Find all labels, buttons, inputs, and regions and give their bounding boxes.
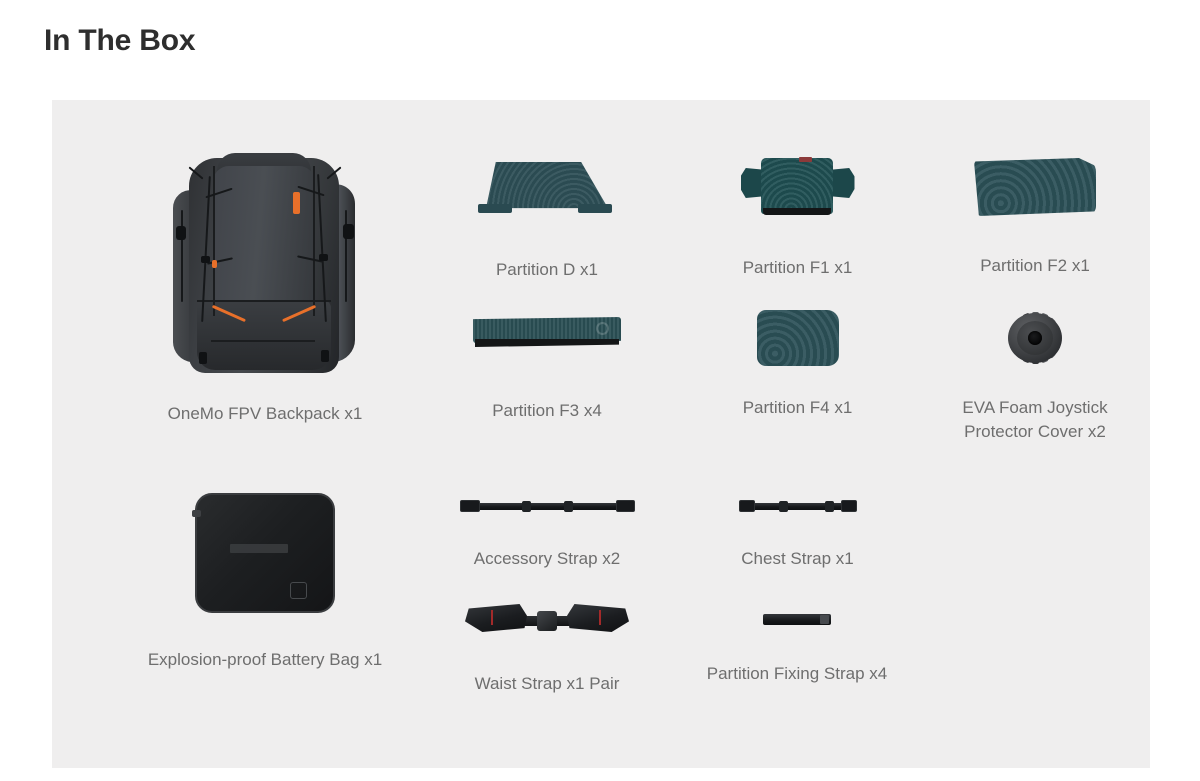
- partition-f1-icon: [739, 156, 857, 220]
- item-partition-f1[interactable]: Partition F1 x1: [680, 156, 915, 280]
- waist-strap-icon: [465, 600, 629, 644]
- item-label: Partition F2 x1: [920, 254, 1150, 278]
- item-label: OneMo FPV Backpack x1: [65, 402, 465, 426]
- item-label: Waist Strap x1 Pair: [427, 672, 667, 696]
- item-label: Explosion-proof Battery Bag x1: [70, 648, 460, 672]
- chest-strap-icon: [739, 495, 857, 517]
- item-partition-fixing-strap[interactable]: Partition Fixing Strap x4: [672, 610, 922, 686]
- item-label: Chest Strap x1: [680, 547, 915, 571]
- partition-f3-icon: [473, 315, 621, 353]
- partition-f4-icon: [757, 310, 839, 366]
- item-label: EVA Foam Joystick Protector Cover x2: [920, 396, 1150, 444]
- item-eva-foam-joystick-protector-cover[interactable]: EVA Foam Joystick Protector Cover x2: [920, 310, 1150, 444]
- item-explosion-proof-battery-bag[interactable]: Explosion-proof Battery Bag x1: [70, 490, 460, 672]
- item-waist-strap[interactable]: Waist Strap x1 Pair: [427, 600, 667, 696]
- in-the-box-panel: OneMo FPV Backpack x1 Partition D x1 Par…: [52, 100, 1150, 768]
- item-accessory-strap[interactable]: Accessory Strap x2: [427, 495, 667, 571]
- item-partition-f4[interactable]: Partition F4 x1: [680, 310, 915, 420]
- item-onemo-fpv-backpack[interactable]: OneMo FPV Backpack x1: [65, 150, 465, 426]
- page-title: In The Box: [44, 20, 195, 62]
- item-label: Partition F4 x1: [680, 396, 915, 420]
- partition-fixing-strap-icon: [763, 610, 831, 628]
- item-label: Partition Fixing Strap x4: [672, 662, 922, 686]
- item-label: Partition F1 x1: [680, 256, 915, 280]
- item-partition-f2[interactable]: Partition F2 x1: [920, 158, 1150, 278]
- item-chest-strap[interactable]: Chest Strap x1: [680, 495, 915, 571]
- partition-f2-icon: [974, 158, 1096, 216]
- partition-d-icon: [482, 158, 612, 220]
- backpack-icon: [165, 150, 365, 380]
- item-label: Partition D x1: [427, 258, 667, 282]
- joystick-cover-icon: [1004, 310, 1066, 368]
- item-label: Partition F3 x4: [427, 399, 667, 423]
- battery-bag-icon: [190, 490, 340, 618]
- accessory-strap-icon: [460, 495, 635, 517]
- item-label: Accessory Strap x2: [427, 547, 667, 571]
- item-partition-d[interactable]: Partition D x1: [427, 158, 667, 282]
- in-the-box-section: In The Box: [0, 0, 1200, 781]
- item-partition-f3[interactable]: Partition F3 x4: [427, 315, 667, 423]
